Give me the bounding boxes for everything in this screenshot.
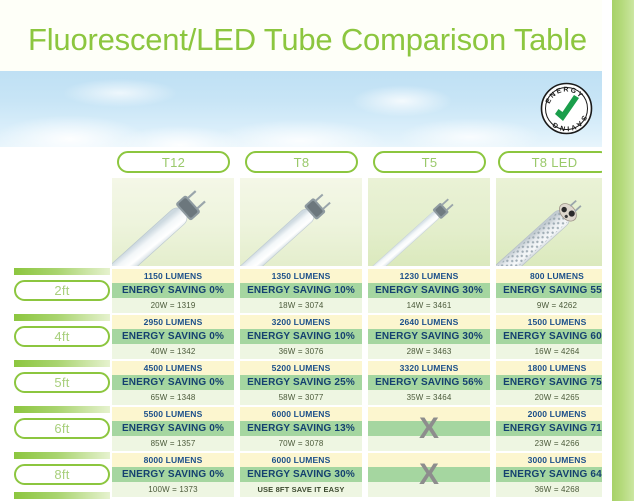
cell-wattage: 20W = 1319	[112, 298, 234, 313]
cell-energy-saving: ENERGY SAVING 75%	[496, 375, 618, 390]
cell-wattage: 9W = 4262	[496, 298, 618, 313]
column-header-label: T12	[162, 155, 185, 170]
cell-energy-saving: ENERGY SAVING 0%	[112, 421, 234, 436]
cell-lumens: 3200 LUMENS	[240, 315, 362, 329]
cell-wattage: 20W = 4265	[496, 390, 618, 405]
cell-wattage: 85W = 1357	[112, 436, 234, 451]
row-rail-4ft	[14, 314, 110, 321]
cell-lumens: 1800 LUMENS	[496, 361, 618, 375]
tube-image-t12	[112, 178, 234, 266]
row-rail-6ft	[14, 406, 110, 413]
cell-wattage: 70W = 3078	[240, 436, 362, 451]
row-rail-2ft	[14, 268, 110, 275]
fluorescent-tube-t5-icon	[368, 178, 490, 266]
cell-energy-saving: ENERGY SAVING 64%	[496, 467, 618, 482]
column-header-t8: T8	[245, 151, 358, 173]
cell-energy-saving: ENERGY SAVING 25%	[240, 375, 362, 390]
cell-energy-saving: ENERGY SAVING 30%	[368, 329, 490, 344]
cell-energy-saving: ENERGY SAVING 0%	[112, 329, 234, 344]
fluorescent-tube-t12-icon	[112, 178, 234, 266]
cell-wattage: 36W = 3076	[240, 344, 362, 359]
cell-lumens: 1350 LUMENS	[240, 269, 362, 283]
cell-lumens: 1150 LUMENS	[112, 269, 234, 283]
cell-energy-saving: ENERGY SAVING 55%	[496, 283, 618, 298]
row-label-5ft: 5ft	[14, 372, 110, 393]
cell-wattage: 14W = 3461	[368, 298, 490, 313]
row-rail-bottom	[14, 492, 110, 499]
cell-energy-saving: ENERGY SAVING 10%	[240, 283, 362, 298]
cell-lumens: 5200 LUMENS	[240, 361, 362, 375]
title-band: Fluorescent/LED Tube Comparison Table	[0, 0, 612, 71]
fluorescent-tube-t8-icon	[240, 178, 362, 266]
cell-energy-saving: ENERGY SAVING 0%	[112, 283, 234, 298]
cell-lumens: 3320 LUMENS	[368, 361, 490, 375]
cell-lumens: 1230 LUMENS	[368, 269, 490, 283]
column-header-label: T8	[294, 155, 310, 170]
cell-energy-saving: ENERGY SAVING 0%	[112, 375, 234, 390]
cell-wattage: 65W = 1348	[112, 390, 234, 405]
cell-energy-saving: ENERGY SAVING 56%	[368, 375, 490, 390]
column-header-t12: T12	[117, 151, 230, 173]
cell-lumens: 5500 LUMENS	[112, 407, 234, 421]
cell-energy-saving: ENERGY SAVING 10%	[240, 329, 362, 344]
cell-wattage: 18W = 3074	[240, 298, 362, 313]
cell-lumens: 2950 LUMENS	[112, 315, 234, 329]
cell-energy-saving: ENERGY SAVING 30%	[368, 283, 490, 298]
cell-lumens: 2000 LUMENS	[496, 407, 618, 421]
tube-image-t8	[240, 178, 362, 266]
cell-lumens: 6000 LUMENS	[240, 407, 362, 421]
cell-wattage: 35W = 3464	[368, 390, 490, 405]
cell-wattage: 36W = 4268	[496, 482, 618, 497]
energy-saving-badge: ENERGY SAVING	[540, 82, 593, 135]
cell-wattage: 58W = 3077	[240, 390, 362, 405]
row-label-2ft: 2ft	[14, 280, 110, 301]
cell-wattage: 100W = 1373	[112, 482, 234, 497]
cell-wattage: 40W = 1342	[112, 344, 234, 359]
cell-lumens: 4500 LUMENS	[112, 361, 234, 375]
edge-gap	[602, 0, 612, 501]
column-header-t5: T5	[373, 151, 486, 173]
cell-energy-saving: ENERGY SAVING 13%	[240, 421, 362, 436]
tube-image-t8-led	[496, 178, 618, 266]
row-label-6ft: 6ft	[14, 418, 110, 439]
tube-image-t5	[368, 178, 490, 266]
led-tube-t8-icon	[496, 178, 618, 266]
cell-energy-saving: ENERGY SAVING 60%	[496, 329, 618, 344]
right-edge-accent-bar	[612, 0, 634, 501]
unavailable-x-icon: X	[368, 451, 490, 499]
row-rail-5ft	[14, 360, 110, 367]
cell-lumens: 800 LUMENS	[496, 269, 618, 283]
comparison-table-page: Fluorescent/LED Tube Comparison Table EN…	[0, 0, 634, 501]
row-label-text: 6ft	[54, 421, 69, 436]
cell-lumens: 8000 LUMENS	[112, 453, 234, 467]
unavailable-x-icon: X	[368, 405, 490, 453]
cell-wattage: 16W = 4264	[496, 344, 618, 359]
cell-energy-saving: ENERGY SAVING 30%	[240, 467, 362, 482]
row-label-text: 2ft	[54, 283, 69, 298]
cell-lumens: 6000 LUMENS	[240, 453, 362, 467]
cell-energy-saving: ENERGY SAVING 0%	[112, 467, 234, 482]
cell-wattage: 23W = 4266	[496, 436, 618, 451]
energy-saving-badge-icon: ENERGY SAVING	[540, 82, 593, 135]
page-title: Fluorescent/LED Tube Comparison Table	[28, 22, 587, 58]
cell-lumens: 3000 LUMENS	[496, 453, 618, 467]
cell-wattage-note: USE 8FT SAVE IT EASY	[240, 482, 362, 497]
row-label-text: 4ft	[54, 329, 69, 344]
comparison-table: T12 T8 T5 T8 LED	[0, 147, 612, 501]
row-label-4ft: 4ft	[14, 326, 110, 347]
cell-energy-saving: ENERGY SAVING 71%	[496, 421, 618, 436]
cell-lumens: 1500 LUMENS	[496, 315, 618, 329]
sky-banner-image	[0, 71, 612, 147]
column-header-label: T5	[422, 155, 438, 170]
column-header-t8-led: T8 LED	[498, 151, 611, 173]
cell-lumens: 2640 LUMENS	[368, 315, 490, 329]
column-header-label: T8 LED	[532, 155, 578, 170]
cell-wattage: 28W = 3463	[368, 344, 490, 359]
row-label-8ft: 8ft	[14, 464, 110, 485]
row-label-text: 8ft	[54, 467, 69, 482]
row-rail-8ft	[14, 452, 110, 459]
row-label-text: 5ft	[54, 375, 69, 390]
